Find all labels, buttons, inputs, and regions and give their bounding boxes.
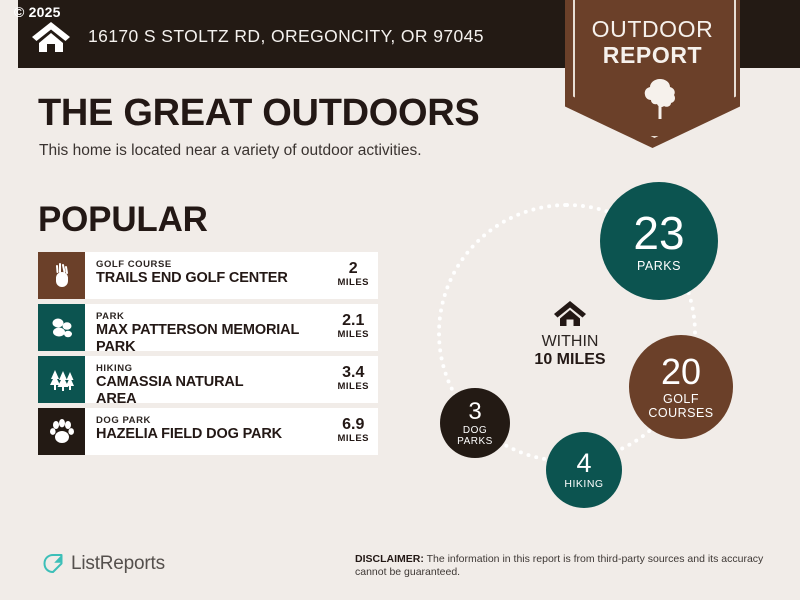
stat-bubble-hiking[interactable]: 4 HIKING	[546, 432, 622, 508]
bubble-label: GOLF	[663, 392, 699, 406]
list-item-category: GOLF COURSE	[96, 259, 337, 270]
home-icon	[30, 20, 72, 54]
list-item-distance: 2 MILES	[337, 252, 378, 299]
distance-unit: MILES	[337, 433, 369, 444]
list-item-name: HAZELIA FIELD DOG PARK	[96, 426, 337, 443]
bubble-count: 3	[468, 400, 481, 424]
list-item-name: MAX PATTERSON MEMORIAL PARK	[96, 322, 337, 356]
distance-value: 2	[337, 260, 369, 277]
paw-icon	[38, 408, 85, 455]
list-item-name: TRAILS END GOLF CENTER	[96, 270, 337, 287]
bubble-count: 4	[576, 450, 591, 477]
list-item-name: CAMASSIA NATURAL AREA	[96, 374, 266, 408]
badge-line-2: REPORT	[565, 42, 740, 68]
list-item-text: PARK MAX PATTERSON MEMORIAL PARK	[85, 304, 337, 351]
within-line-2: 10 MILES	[510, 351, 630, 369]
list-item-text: GOLF COURSE TRAILS END GOLF CENTER	[85, 252, 337, 299]
stat-bubble-golf-courses[interactable]: 20 GOLF COURSES	[629, 335, 733, 439]
bubble-label: PARKS	[637, 259, 681, 273]
list-item-distance: 3.4 MILES	[337, 356, 378, 403]
disclaimer-label: DISCLAIMER:	[355, 553, 424, 565]
logo-text: ListReports	[71, 553, 165, 575]
list-item-text: DOG PARK HAZELIA FIELD DOG PARK	[85, 408, 337, 455]
page-title: THE GREAT OUTDOORS	[38, 92, 479, 135]
listreports-logo[interactable]: ListReports	[42, 553, 165, 575]
distance-value: 3.4	[337, 364, 369, 381]
list-item[interactable]: PARK MAX PATTERSON MEMORIAL PARK 2.1 MIL…	[38, 304, 378, 351]
list-item-category: HIKING	[96, 363, 337, 374]
badge-title: OUTDOOR REPORT	[565, 16, 740, 68]
list-item[interactable]: GOLF COURSE TRAILS END GOLF CENTER 2 MIL…	[38, 252, 378, 299]
stat-bubble-parks[interactable]: 23 PARKS	[600, 182, 718, 300]
list-item-distance: 6.9 MILES	[337, 408, 378, 455]
outdoor-report-page: © 2025 16170 S STOLTZ RD, OREGONCITY, OR…	[0, 0, 800, 600]
disclaimer: DISCLAIMER: The information in this repo…	[355, 553, 775, 579]
list-item-category: DOG PARK	[96, 415, 337, 426]
popular-list: GOLF COURSE TRAILS END GOLF CENTER 2 MIL…	[38, 252, 378, 460]
popular-heading: POPULAR	[38, 200, 208, 240]
bubble-count: 20	[661, 354, 701, 390]
list-item-text: HIKING CAMASSIA NATURAL AREA	[85, 356, 337, 403]
list-item[interactable]: HIKING CAMASSIA NATURAL AREA 3.4 MILES	[38, 356, 378, 403]
tree-icon	[643, 78, 677, 120]
home-icon	[510, 300, 630, 328]
stat-bubble-dog-parks[interactable]: 3 DOG PARKS	[440, 388, 510, 458]
list-item-category: PARK	[96, 311, 337, 322]
distance-value: 6.9	[337, 416, 369, 433]
bubble-count: 23	[633, 210, 684, 256]
within-radius-center: WITHIN 10 MILES	[510, 300, 630, 369]
listreports-tag-icon	[42, 553, 71, 575]
copyright-label: © 2025	[14, 4, 61, 20]
distance-unit: MILES	[337, 381, 369, 392]
bubble-label: HIKING	[564, 478, 603, 490]
within-line-1: WITHIN	[510, 333, 630, 351]
page-subtitle: This home is located near a variety of o…	[39, 142, 422, 160]
golf-bag-icon	[38, 252, 85, 299]
distance-unit: MILES	[337, 277, 369, 288]
list-item-distance: 2.1 MILES	[337, 304, 378, 351]
bubble-label-2: COURSES	[648, 406, 713, 420]
distance-value: 2.1	[337, 312, 369, 329]
trees-icon	[38, 356, 85, 403]
property-address: 16170 S STOLTZ RD, OREGONCITY, OR 97045	[88, 26, 484, 47]
bubble-label: DOG	[463, 425, 487, 436]
distance-unit: MILES	[337, 329, 369, 340]
park-icon	[38, 304, 85, 351]
bubble-label-2: PARKS	[457, 436, 493, 447]
list-item[interactable]: DOG PARK HAZELIA FIELD DOG PARK 6.9 MILE…	[38, 408, 378, 455]
badge-line-1: OUTDOOR	[565, 16, 740, 42]
